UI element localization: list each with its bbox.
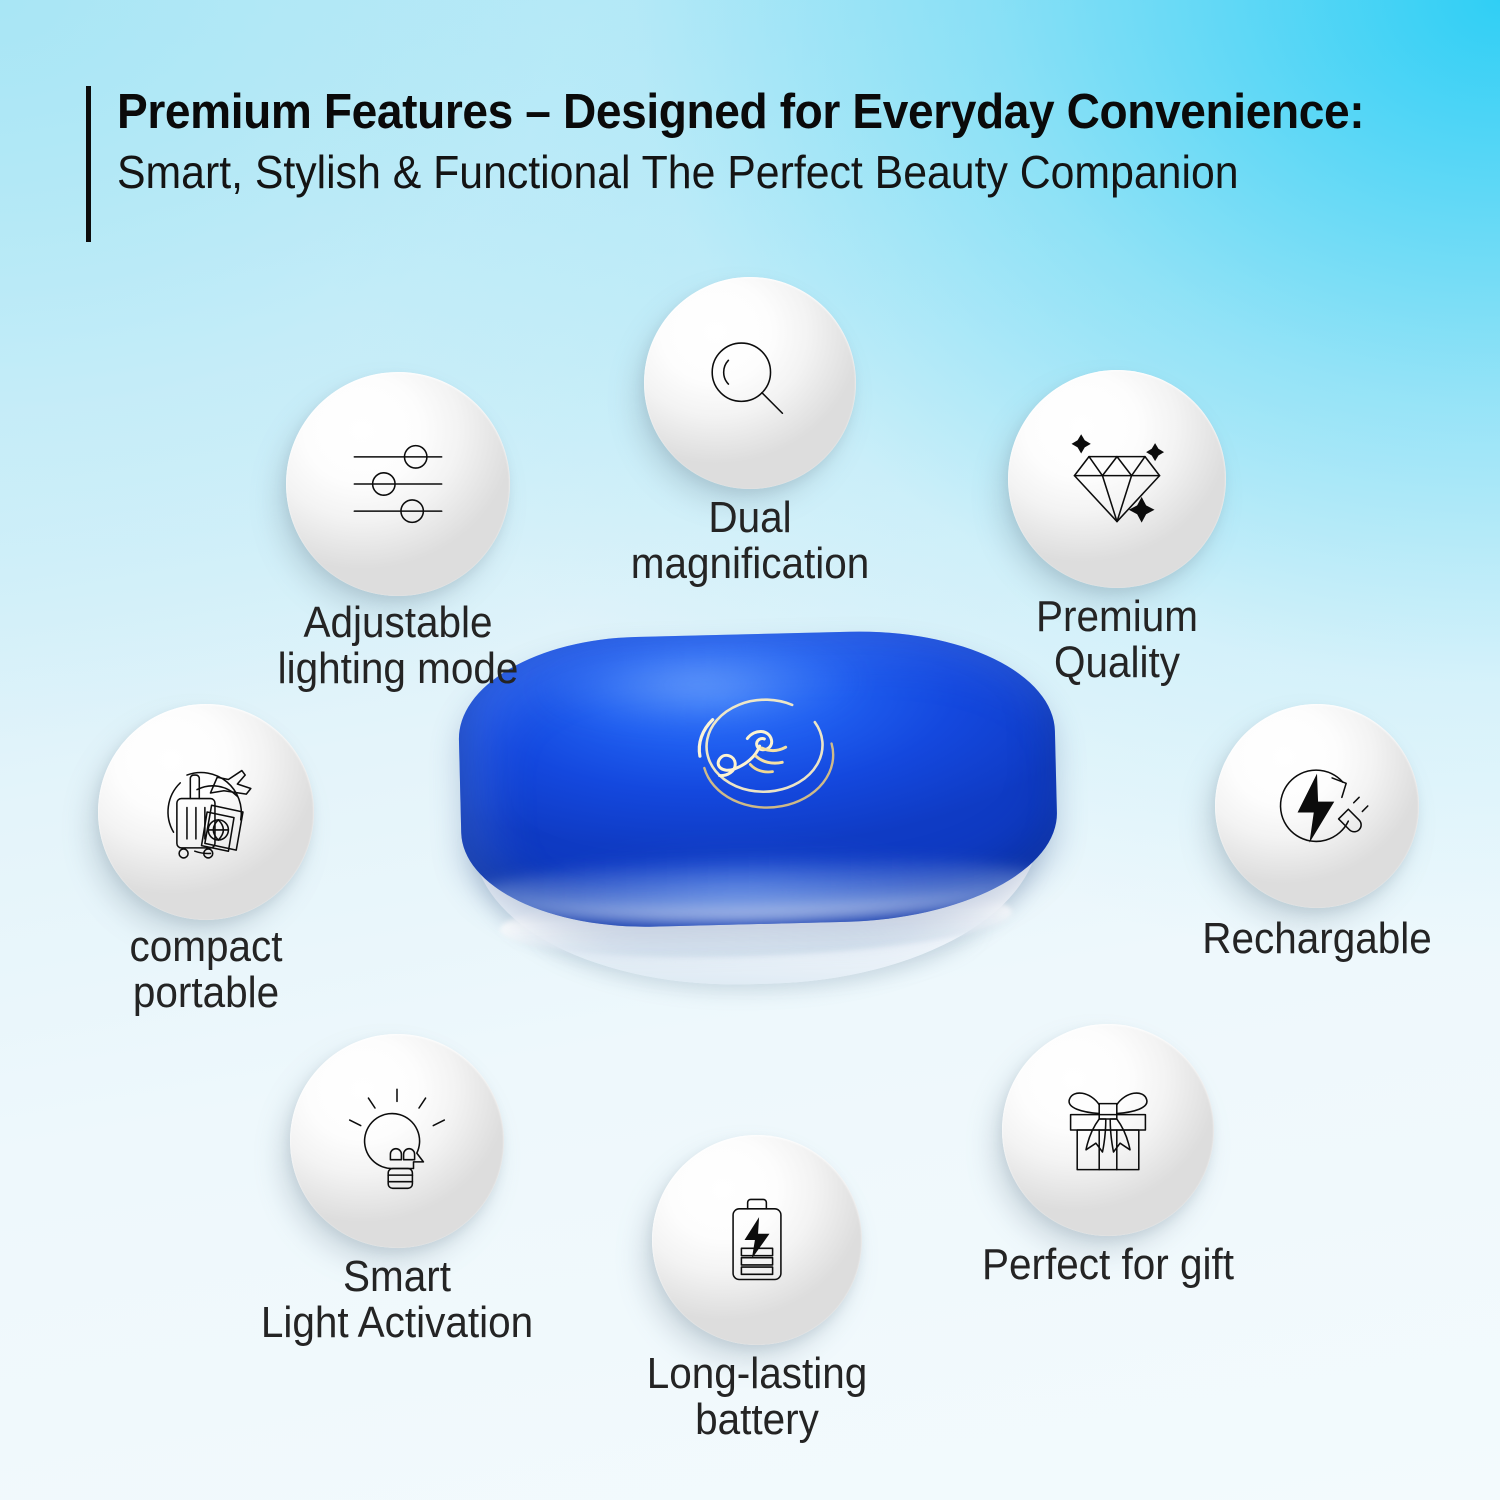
feature-bubble[interactable] xyxy=(1002,1024,1214,1236)
feature-label-line1: Adjustable xyxy=(278,600,519,646)
gift-box-icon xyxy=(1053,1075,1163,1185)
feature-label-line1: Smart xyxy=(261,1254,533,1300)
feature-bubble[interactable] xyxy=(290,1034,504,1248)
travel-luggage-icon xyxy=(150,756,262,868)
feature-bubble[interactable] xyxy=(1215,704,1419,908)
feature-rechargable[interactable]: Rechargable xyxy=(1215,704,1419,908)
feature-long-lasting-battery[interactable]: Long-lasting battery xyxy=(652,1135,862,1345)
feature-label-line2: lighting mode xyxy=(278,646,519,692)
feature-label-line2: portable xyxy=(130,970,283,1016)
feature-perfect-for-gift[interactable]: Perfect for gift xyxy=(1002,1024,1214,1236)
feature-label: Smart Light Activation xyxy=(261,1254,533,1346)
diamond-icon xyxy=(1061,423,1173,535)
feature-bubble[interactable] xyxy=(644,277,856,489)
feature-dual-magnification[interactable]: Dual magnification xyxy=(644,277,856,489)
feature-label-line1: Rechargable xyxy=(1202,916,1432,962)
heading-block: Premium Features – Designed for Everyday… xyxy=(86,86,1444,242)
feature-label-line1: Long-lasting xyxy=(647,1351,868,1397)
feature-label: Rechargable xyxy=(1202,916,1432,962)
brand-text-care: C xyxy=(688,773,709,794)
feature-label-line2: Quality xyxy=(1036,640,1198,686)
feature-adjustable-lighting-mode[interactable]: Adjustable lighting mode xyxy=(286,372,510,596)
feature-smart-light-activation[interactable]: Smart Light Activation xyxy=(290,1034,504,1248)
page-subtitle: Smart, Stylish & Functional The Perfect … xyxy=(117,147,1351,199)
feature-label: Dual magnification xyxy=(631,495,870,587)
brand-logo-cyn-care: C Y N C A R E xyxy=(662,691,862,824)
feature-label: Premium Quality xyxy=(1036,594,1198,686)
feature-premium-quality[interactable]: Premium Quality xyxy=(1008,370,1226,588)
feature-label: compact portable xyxy=(130,924,283,1016)
sliders-icon xyxy=(339,425,457,543)
feature-label-line1: Perfect for gift xyxy=(982,1242,1234,1288)
feature-label-line1: compact xyxy=(130,924,283,970)
feature-bubble[interactable] xyxy=(98,704,314,920)
charging-plug-icon xyxy=(1263,752,1371,860)
lightbulb-head-icon xyxy=(342,1086,452,1196)
product-image-compact-mirror: C Y N C A R E xyxy=(452,628,1062,1028)
feature-bubble[interactable] xyxy=(286,372,510,596)
feature-bubble[interactable] xyxy=(652,1135,862,1345)
feature-label-line2: battery xyxy=(647,1397,868,1443)
feature-label: Perfect for gift xyxy=(982,1242,1234,1288)
svg-text:Y: Y xyxy=(800,702,818,722)
battery-charge-icon xyxy=(705,1188,809,1292)
magnifier-icon xyxy=(696,329,804,437)
feature-bubble[interactable] xyxy=(1008,370,1226,588)
feature-label: Adjustable lighting mode xyxy=(278,600,519,692)
feature-label: Long-lasting battery xyxy=(647,1351,868,1443)
feature-compact-portable[interactable]: compact portable xyxy=(98,704,314,920)
page-title: Premium Features – Designed for Everyday… xyxy=(117,86,1364,139)
feature-label-line1: Premium xyxy=(1036,594,1198,640)
feature-label-line1: Dual xyxy=(631,495,870,541)
feature-label-line2: magnification xyxy=(631,541,870,587)
infographic-canvas: Premium Features – Designed for Everyday… xyxy=(0,0,1500,1500)
feature-label-line2: Light Activation xyxy=(261,1300,533,1346)
